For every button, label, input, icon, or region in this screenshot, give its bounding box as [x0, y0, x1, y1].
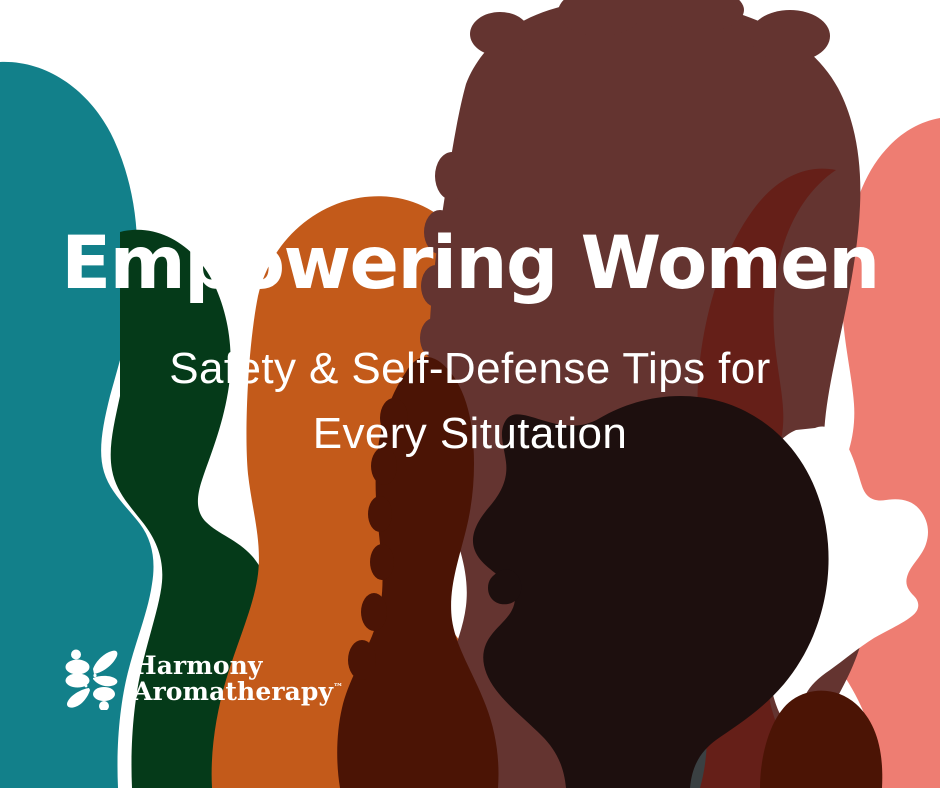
poster-canvas: Empowering Women Safety & Self-Defense T… [0, 0, 940, 788]
brand-wordmark: Harmony Aromatherapy™ [133, 653, 343, 705]
brand-line-2: Aromatherapy [133, 677, 333, 706]
brand-line-1: Harmony [133, 653, 343, 679]
brand-line-2-wrap: Aromatherapy™ [133, 679, 343, 705]
butterfly-floral-mark-icon [62, 648, 120, 710]
trademark-symbol: ™ [333, 683, 343, 694]
brand-logo[interactable]: Harmony Aromatherapy™ [62, 648, 343, 710]
